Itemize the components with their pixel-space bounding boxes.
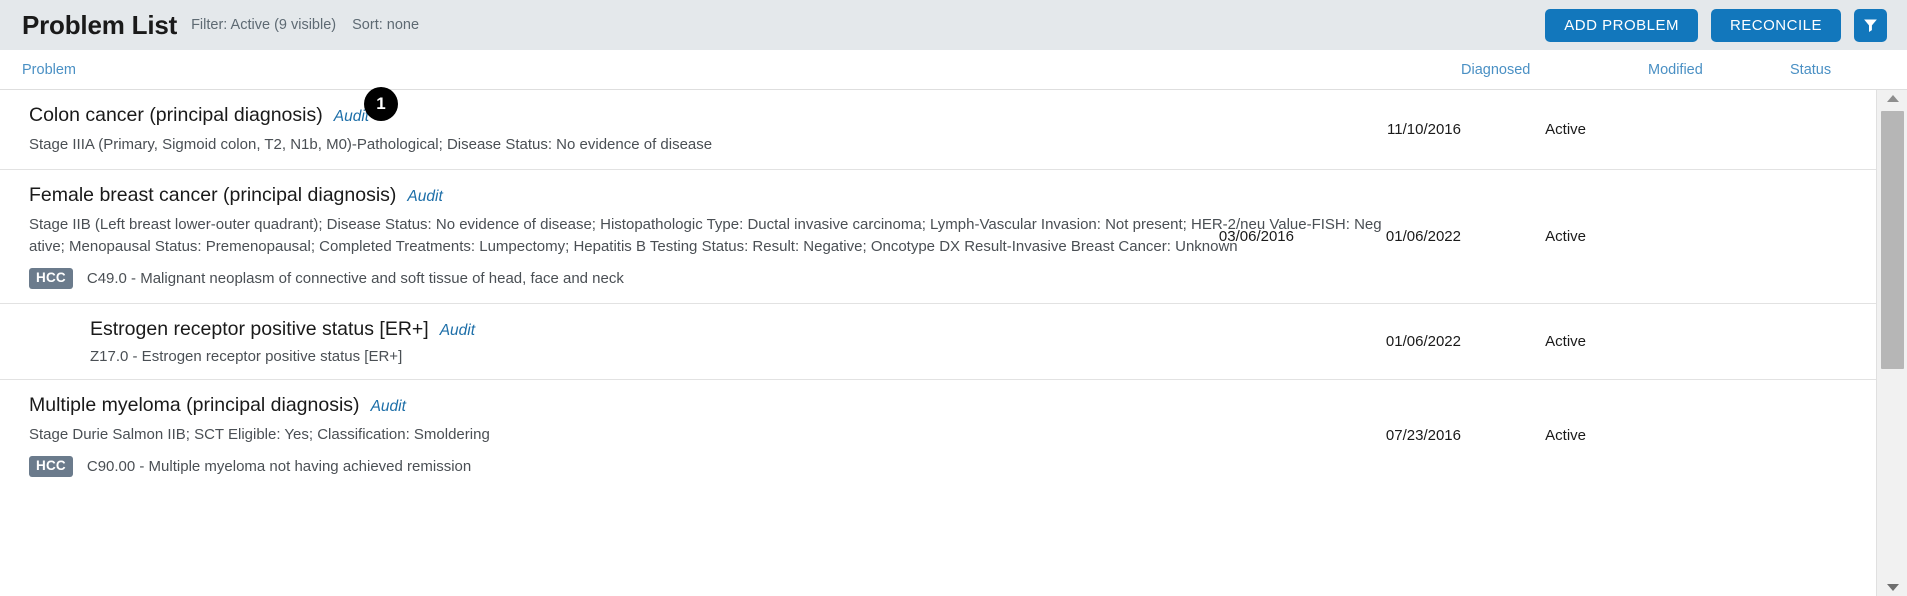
column-header-status[interactable]: Status	[1790, 62, 1831, 78]
problem-title-line: Colon cancer (principal diagnosis)Audit	[29, 104, 1416, 127]
cell-modified: 11/10/2016	[1387, 121, 1461, 138]
header-actions: ADD PROBLEM RECONCILE	[1545, 9, 1887, 42]
problem-title[interactable]: Multiple myeloma (principal diagnosis)	[29, 394, 360, 417]
caret-up-icon	[1887, 95, 1899, 102]
cell-modified: 01/06/2022	[1386, 228, 1461, 245]
funnel-icon	[1863, 18, 1878, 33]
column-header-diagnosed[interactable]: Diagnosed	[1461, 62, 1530, 78]
problem-description: Stage Durie Salmon IIB; SCT Eligible: Ye…	[29, 424, 1384, 445]
cell-status: Active	[1545, 121, 1586, 138]
cell-modified: 01/06/2022	[1386, 333, 1461, 350]
table-row-content: Colon cancer (principal diagnosis)AuditS…	[0, 104, 1876, 155]
column-header-row: Problem Diagnosed Modified Status	[0, 50, 1907, 90]
problem-code: C49.0 - Malignant neoplasm of connective…	[87, 270, 624, 287]
problem-title[interactable]: Female breast cancer (principal diagnosi…	[29, 184, 396, 207]
table-row-content: Multiple myeloma (principal diagnosis)Au…	[0, 394, 1876, 477]
problem-title[interactable]: Estrogen receptor positive status [ER+]	[90, 318, 429, 341]
audit-link[interactable]: Audit	[371, 398, 406, 416]
vertical-scrollbar[interactable]	[1876, 90, 1907, 596]
problem-description: Stage IIIA (Primary, Sigmoid colon, T2, …	[29, 134, 1384, 155]
table-row[interactable]: Female breast cancer (principal diagnosi…	[0, 170, 1876, 303]
add-problem-button[interactable]: ADD PROBLEM	[1545, 9, 1698, 42]
filter-status-text: Filter: Active (9 visible)	[191, 17, 336, 33]
problem-main: Colon cancer (principal diagnosis)AuditS…	[0, 104, 1876, 155]
column-header-modified[interactable]: Modified	[1648, 62, 1703, 78]
cell-status: Active	[1545, 427, 1586, 444]
problem-code: C90.00 - Multiple myeloma not having ach…	[87, 458, 471, 475]
table-row[interactable]: Multiple myeloma (principal diagnosis)Au…	[0, 380, 1876, 491]
hcc-badge: HCC	[29, 268, 73, 289]
problem-title[interactable]: Colon cancer (principal diagnosis)	[29, 104, 323, 127]
problem-list: Colon cancer (principal diagnosis)AuditS…	[0, 90, 1876, 596]
problem-code-line: HCCC90.00 - Multiple myeloma not having …	[29, 456, 1416, 477]
problem-description: Stage IIB (Left breast lower-outer quadr…	[29, 214, 1384, 257]
problem-list-scroll-region: Colon cancer (principal diagnosis)AuditS…	[0, 90, 1907, 596]
problem-code-line: Z17.0 - Estrogen receptor positive statu…	[90, 348, 1416, 365]
problem-main: Female breast cancer (principal diagnosi…	[0, 184, 1876, 288]
table-row-content: Female breast cancer (principal diagnosi…	[0, 184, 1876, 288]
problem-title-line: Female breast cancer (principal diagnosi…	[29, 184, 1416, 207]
page-title: Problem List	[22, 10, 177, 41]
problem-list-app: Problem List Filter: Active (9 visible) …	[0, 0, 1907, 596]
problem-code: Z17.0 - Estrogen receptor positive statu…	[90, 348, 402, 365]
problem-code-line: HCCC49.0 - Malignant neoplasm of connect…	[29, 268, 1416, 289]
table-row-content: Estrogen receptor positive status [ER+]A…	[0, 318, 1876, 365]
cell-status: Active	[1545, 228, 1586, 245]
caret-down-icon	[1887, 584, 1899, 591]
problem-title-line: Estrogen receptor positive status [ER+]A…	[90, 318, 1416, 341]
sort-status-text: Sort: none	[352, 17, 419, 33]
cell-diagnosed: 03/06/2016	[1219, 228, 1294, 245]
hcc-badge: HCC	[29, 456, 73, 477]
reconcile-button[interactable]: RECONCILE	[1711, 9, 1841, 42]
problem-main: Estrogen receptor positive status [ER+]A…	[0, 318, 1876, 365]
scroll-down-button[interactable]	[1877, 579, 1907, 596]
scrollbar-thumb[interactable]	[1881, 111, 1904, 369]
scroll-up-button[interactable]	[1877, 90, 1907, 107]
audit-link[interactable]: Audit	[407, 188, 442, 206]
cell-status: Active	[1545, 333, 1586, 350]
audit-link[interactable]: Audit	[440, 322, 475, 340]
problem-main: Multiple myeloma (principal diagnosis)Au…	[0, 394, 1876, 477]
annotation-badge-1: 1	[364, 87, 398, 121]
header-bar: Problem List Filter: Active (9 visible) …	[0, 0, 1907, 50]
header-meta: Filter: Active (9 visible) Sort: none	[191, 17, 419, 33]
audit-link[interactable]: Audit	[334, 108, 369, 126]
table-row[interactable]: Estrogen receptor positive status [ER+]A…	[0, 304, 1876, 380]
cell-modified: 07/23/2016	[1386, 427, 1461, 444]
table-row[interactable]: Colon cancer (principal diagnosis)AuditS…	[0, 90, 1876, 170]
problem-title-line: Multiple myeloma (principal diagnosis)Au…	[29, 394, 1416, 417]
column-header-problem[interactable]: Problem	[22, 62, 76, 78]
filter-button[interactable]	[1854, 9, 1887, 42]
